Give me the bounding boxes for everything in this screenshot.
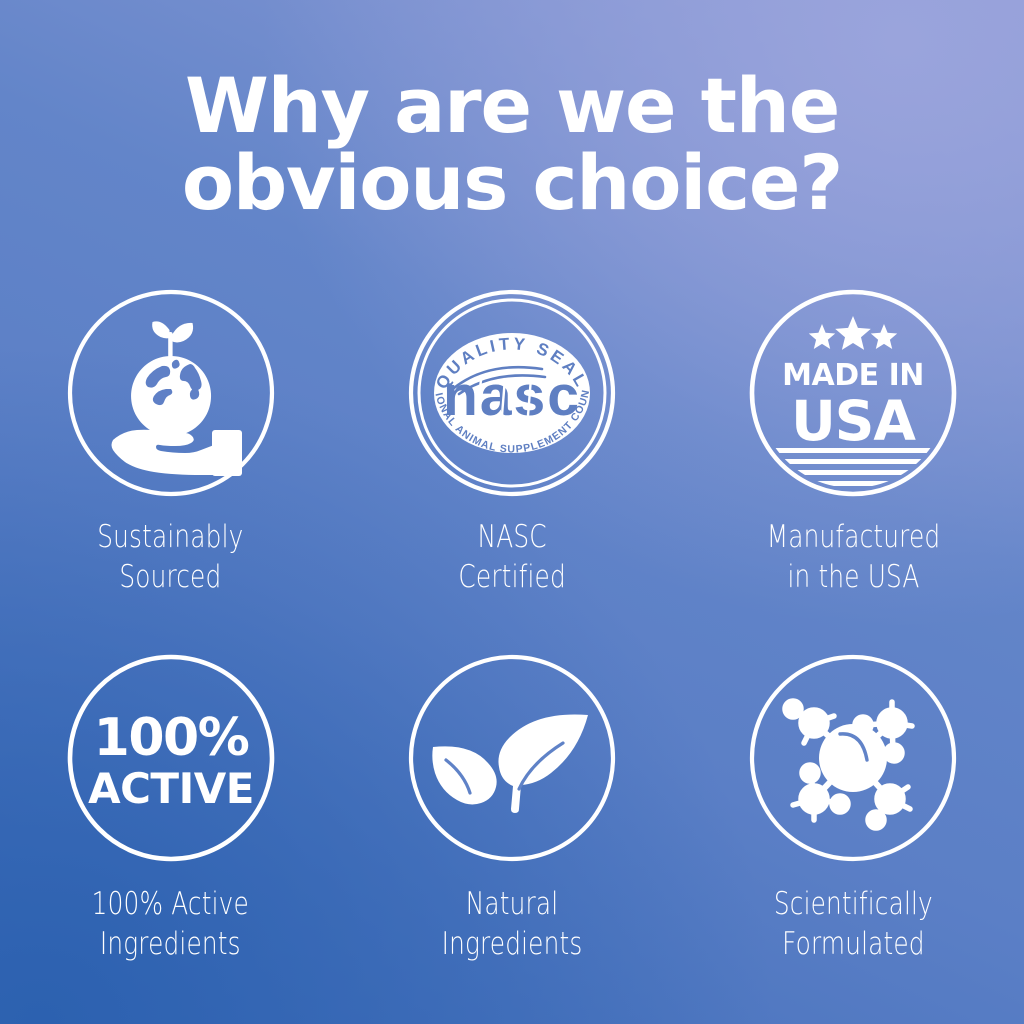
caption-line-2: Formulated — [774, 925, 933, 965]
hundred-percent-active-icon: 100% ACTIVE — [66, 653, 276, 863]
caption-line-1: Natural — [442, 885, 583, 925]
page-title: Why are we the obvious choice? — [0, 68, 1024, 220]
caption-line-1: Scientifically — [774, 885, 933, 925]
two-leaves-icon — [407, 653, 617, 863]
caption-line-1: NASC — [458, 518, 565, 558]
promo-poster: Why are we the obvious choice? — [0, 0, 1024, 1024]
caption-line-2: Ingredients — [92, 925, 249, 965]
seal-center-text: nasc — [443, 364, 581, 428]
made-in-usa-icon: MADE IN USA — [748, 288, 958, 498]
headline-line-1: Why are we the — [0, 68, 1024, 143]
caption-line-2: Ingredients — [442, 925, 583, 965]
nasc-quality-seal-icon: QUALITY SEAL NATIONAL ANIMAL SUPPLEMENT … — [407, 288, 617, 498]
feature-item-scientifically-formulated: Scientifically Formulated — [683, 653, 1024, 1018]
feature-item-nasc-certified: QUALITY SEAL NATIONAL ANIMAL SUPPLEMENT … — [341, 288, 682, 653]
feature-item-sustainably-sourced: Sustainably Sourced — [0, 288, 341, 653]
active-line-1: 100% — [93, 708, 248, 768]
feature-item-natural-ingredients: Natural Ingredients — [341, 653, 682, 1018]
globe-in-hand-sprout-icon — [66, 288, 276, 498]
feature-caption: 100% Active Ingredients — [92, 885, 249, 964]
feature-caption: Sustainably Sourced — [98, 518, 244, 597]
caption-line-1: Sustainably — [98, 518, 244, 558]
usa-line-2: USA — [791, 389, 916, 453]
caption-line-2: in the USA — [767, 558, 941, 598]
headline-line-2: obvious choice? — [0, 145, 1024, 220]
caption-line-2: Sourced — [98, 558, 244, 598]
feature-caption: NASC Certified — [458, 518, 565, 597]
active-line-2: ACTIVE — [88, 764, 254, 813]
feature-caption: Natural Ingredients — [442, 885, 583, 964]
caption-line-1: 100% Active — [92, 885, 249, 925]
feature-item-100-percent-active: 100% ACTIVE 100% Active Ingredients — [0, 653, 341, 1018]
feature-caption: Scientifically Formulated — [774, 885, 933, 964]
caption-line-2: Certified — [458, 558, 565, 598]
molecule-icon — [748, 653, 958, 863]
feature-item-made-in-usa: MADE IN USA Manufactured in the USA — [683, 288, 1024, 653]
feature-caption: Manufactured in the USA — [767, 518, 941, 597]
caption-line-1: Manufactured — [767, 518, 941, 558]
feature-grid: Sustainably Sourced QUALITY SEAL — [0, 288, 1024, 1018]
usa-line-1: MADE IN — [782, 358, 924, 393]
